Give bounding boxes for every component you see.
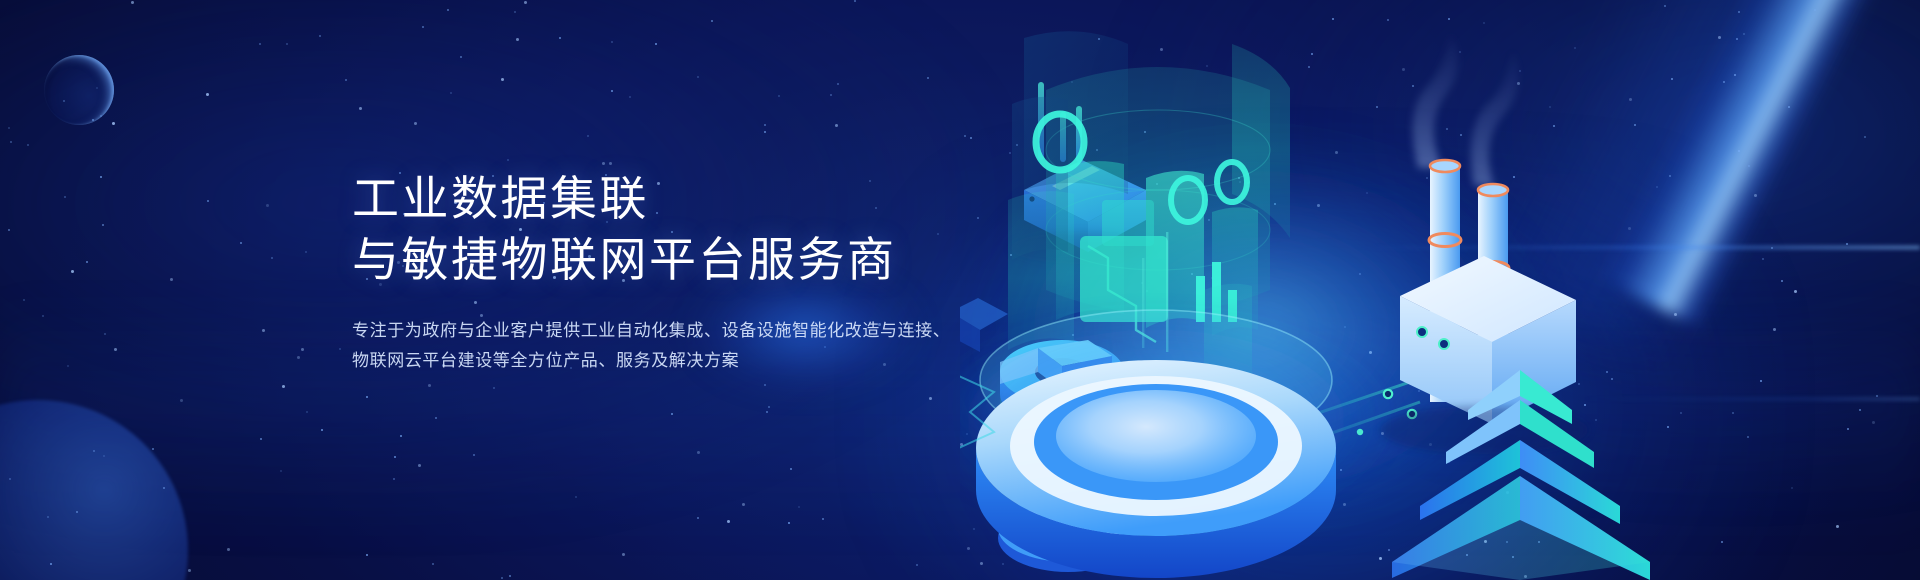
smoke-left <box>1413 32 1459 168</box>
subtitle-line-1: 专注于为政府与企业客户提供工业自动化集成、设备设施智能化改造与连接、 <box>352 316 950 346</box>
page-subtitle: 专注于为政府与企业客户提供工业自动化集成、设备设施智能化改造与连接、 物联网云平… <box>352 316 950 377</box>
page-title: 工业数据集联 与敏捷物联网平台服务商 <box>352 168 950 290</box>
holo-core-block-b <box>1102 200 1154 246</box>
glowing-disc-base <box>960 300 1406 578</box>
hero-banner: 工业数据集联 与敏捷物联网平台服务商 专注于为政府与企业客户提供工业自动化集成、… <box>0 0 1920 580</box>
planet-sphere-icon <box>0 400 188 580</box>
headline-line-1: 工业数据集联 <box>352 168 950 229</box>
disc-core <box>1056 390 1256 482</box>
subtitle-line-2: 物联网云平台建设等全方位产品、服务及解决方案 <box>352 346 950 376</box>
headline-line-2: 与敏捷物联网平台服务商 <box>352 229 950 290</box>
hero-copy: 工业数据集联 与敏捷物联网平台服务商 专注于为政府与企业客户提供工业自动化集成、… <box>352 168 950 377</box>
factory-port-1 <box>1417 327 1427 337</box>
smoke-right <box>1471 48 1518 186</box>
factory-port-2 <box>1439 339 1449 349</box>
crescent-moon-icon <box>44 55 114 125</box>
illustration-scene <box>960 0 1920 580</box>
